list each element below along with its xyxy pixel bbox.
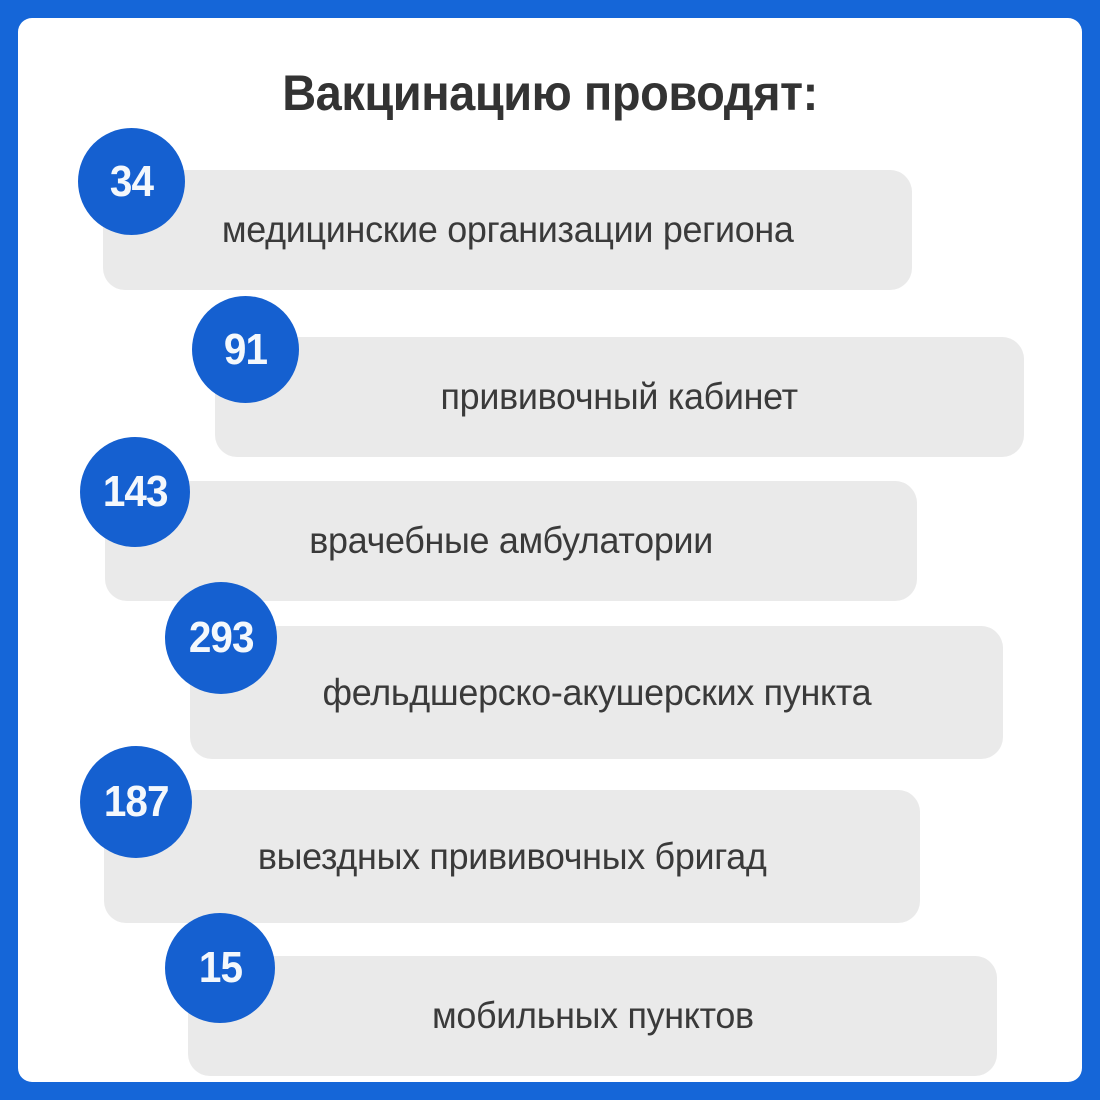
stat-count: 143 [103,470,168,514]
stat-label: фельдшерско-акушерских пункта [305,669,889,716]
stat-label: врачебные амбулатории [292,517,731,564]
stat-count-badge: 293 [165,582,277,694]
stat-count-badge: 187 [80,746,192,858]
stat-count-badge: 34 [78,128,185,235]
stat-count: 187 [104,780,169,824]
stat-label-chip: прививочный кабинет [215,337,1024,457]
stat-label-chip: фельдшерско-акушерских пункта [190,626,1003,759]
stat-count: 293 [189,616,254,660]
stat-count: 91 [224,328,267,372]
stat-count: 15 [198,946,241,990]
stat-label-chip: мобильных пунктов [188,956,997,1076]
stat-label-chip: выездных прививочных бригад [104,790,920,923]
stat-label-chip: медицинские организации региона [103,170,912,290]
stat-label: медицинские организации региона [204,206,811,253]
poster-card: Вакцинацию проводят: медицинские организ… [18,18,1082,1082]
stat-count-badge: 15 [165,913,275,1023]
stat-label: выездных прививочных бригад [240,833,784,880]
stat-count-badge: 91 [192,296,299,403]
stat-count-badge: 143 [80,437,190,547]
page-title: Вакцинацию проводят: [50,64,1050,122]
stat-label: мобильных пунктов [414,992,771,1039]
infographic-poster: Вакцинацию проводят: медицинские организ… [0,0,1100,1100]
stat-count: 34 [110,160,153,204]
stat-label: прививочный кабинет [423,373,815,420]
